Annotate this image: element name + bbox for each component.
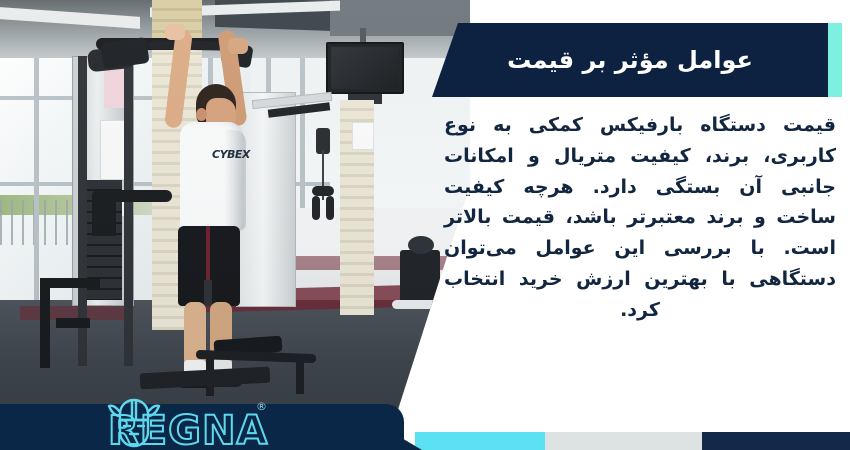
registered-trademark-icon: ® [256, 400, 267, 413]
bottom-bar-segment-gray [545, 432, 702, 450]
bottom-accent-bar [0, 432, 850, 450]
page-title: عوامل مؤثر بر قیمت [507, 46, 753, 74]
photo-tint-overlay [0, 0, 500, 450]
slide-canvas: CYBEX [0, 0, 850, 450]
bottom-bar-spacer [0, 432, 415, 450]
bottom-bar-segment-navy [702, 432, 850, 450]
gym-photo: CYBEX [0, 0, 500, 450]
body-paragraph: قیمت دستگاه بارفیکس کمکی به نوع کاربری، … [444, 110, 836, 325]
gym-photo-panel: CYBEX [0, 0, 500, 450]
bottom-bar-segment-cyan [415, 432, 545, 450]
title-accent-strip [828, 23, 842, 97]
title-banner: عوامل مؤثر بر قیمت [432, 23, 828, 97]
